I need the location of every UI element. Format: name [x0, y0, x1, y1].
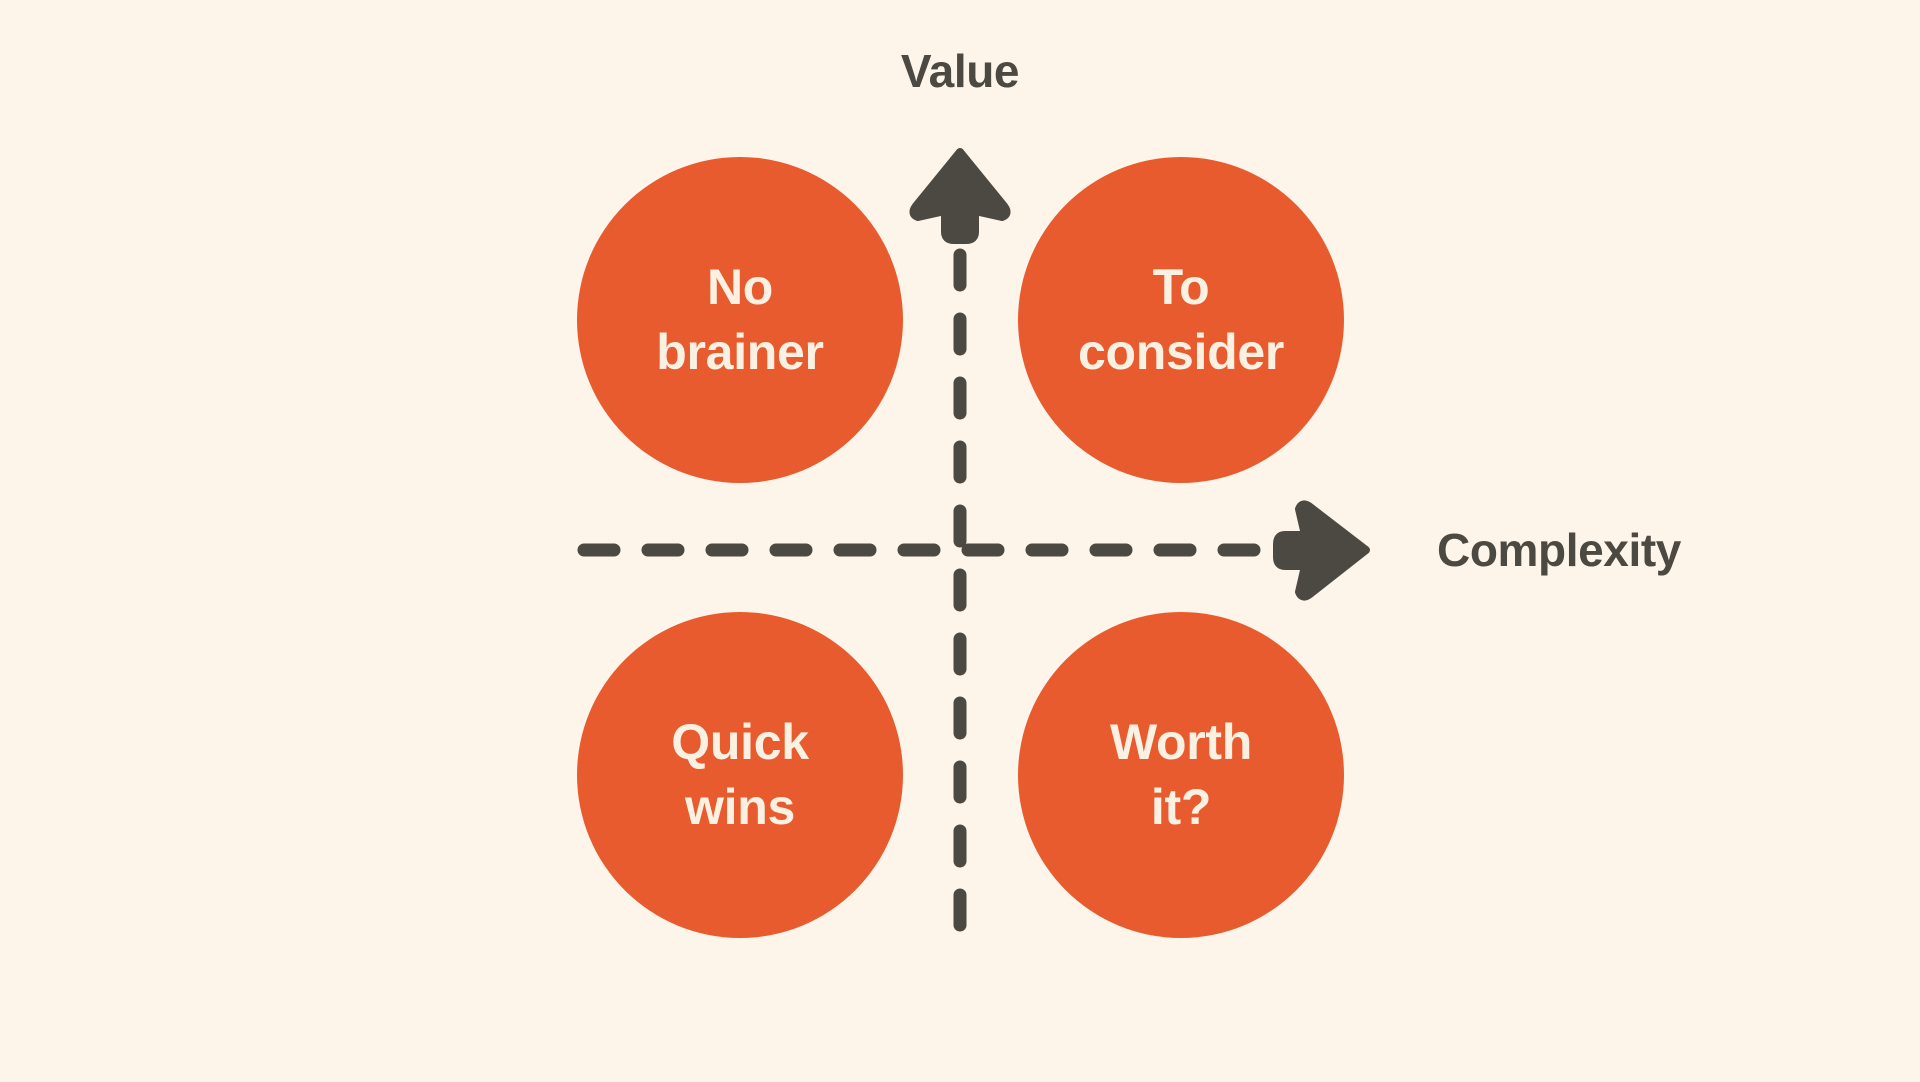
quadrant-bubble-no-brainer[interactable]: No brainer	[577, 157, 903, 483]
bubble-label-line: Worth	[1110, 710, 1252, 775]
quadrant-bubble-to-consider[interactable]: To consider	[1018, 157, 1344, 483]
bubble-label-line: consider	[1078, 320, 1284, 385]
bubble-label-line: Quick	[671, 710, 808, 775]
x-axis-arrowhead-icon	[1277, 504, 1366, 596]
y-axis-label: Value	[0, 48, 1920, 94]
bubble-label-line: brainer	[656, 320, 823, 385]
bubble-label-line: No	[707, 255, 773, 320]
x-axis-label: Complexity	[1437, 527, 1681, 573]
bubble-label-line: wins	[685, 775, 795, 840]
quadrant-bubble-worth-it[interactable]: Worth it?	[1018, 612, 1344, 938]
y-axis-arrowhead-icon	[913, 152, 1006, 240]
quadrant-bubble-quick-wins[interactable]: Quick wins	[577, 612, 903, 938]
value-complexity-matrix: Value Complexity No brainer To consider …	[0, 0, 1920, 1082]
bubble-label-line: To	[1153, 255, 1210, 320]
bubble-label-line: it?	[1151, 775, 1211, 840]
